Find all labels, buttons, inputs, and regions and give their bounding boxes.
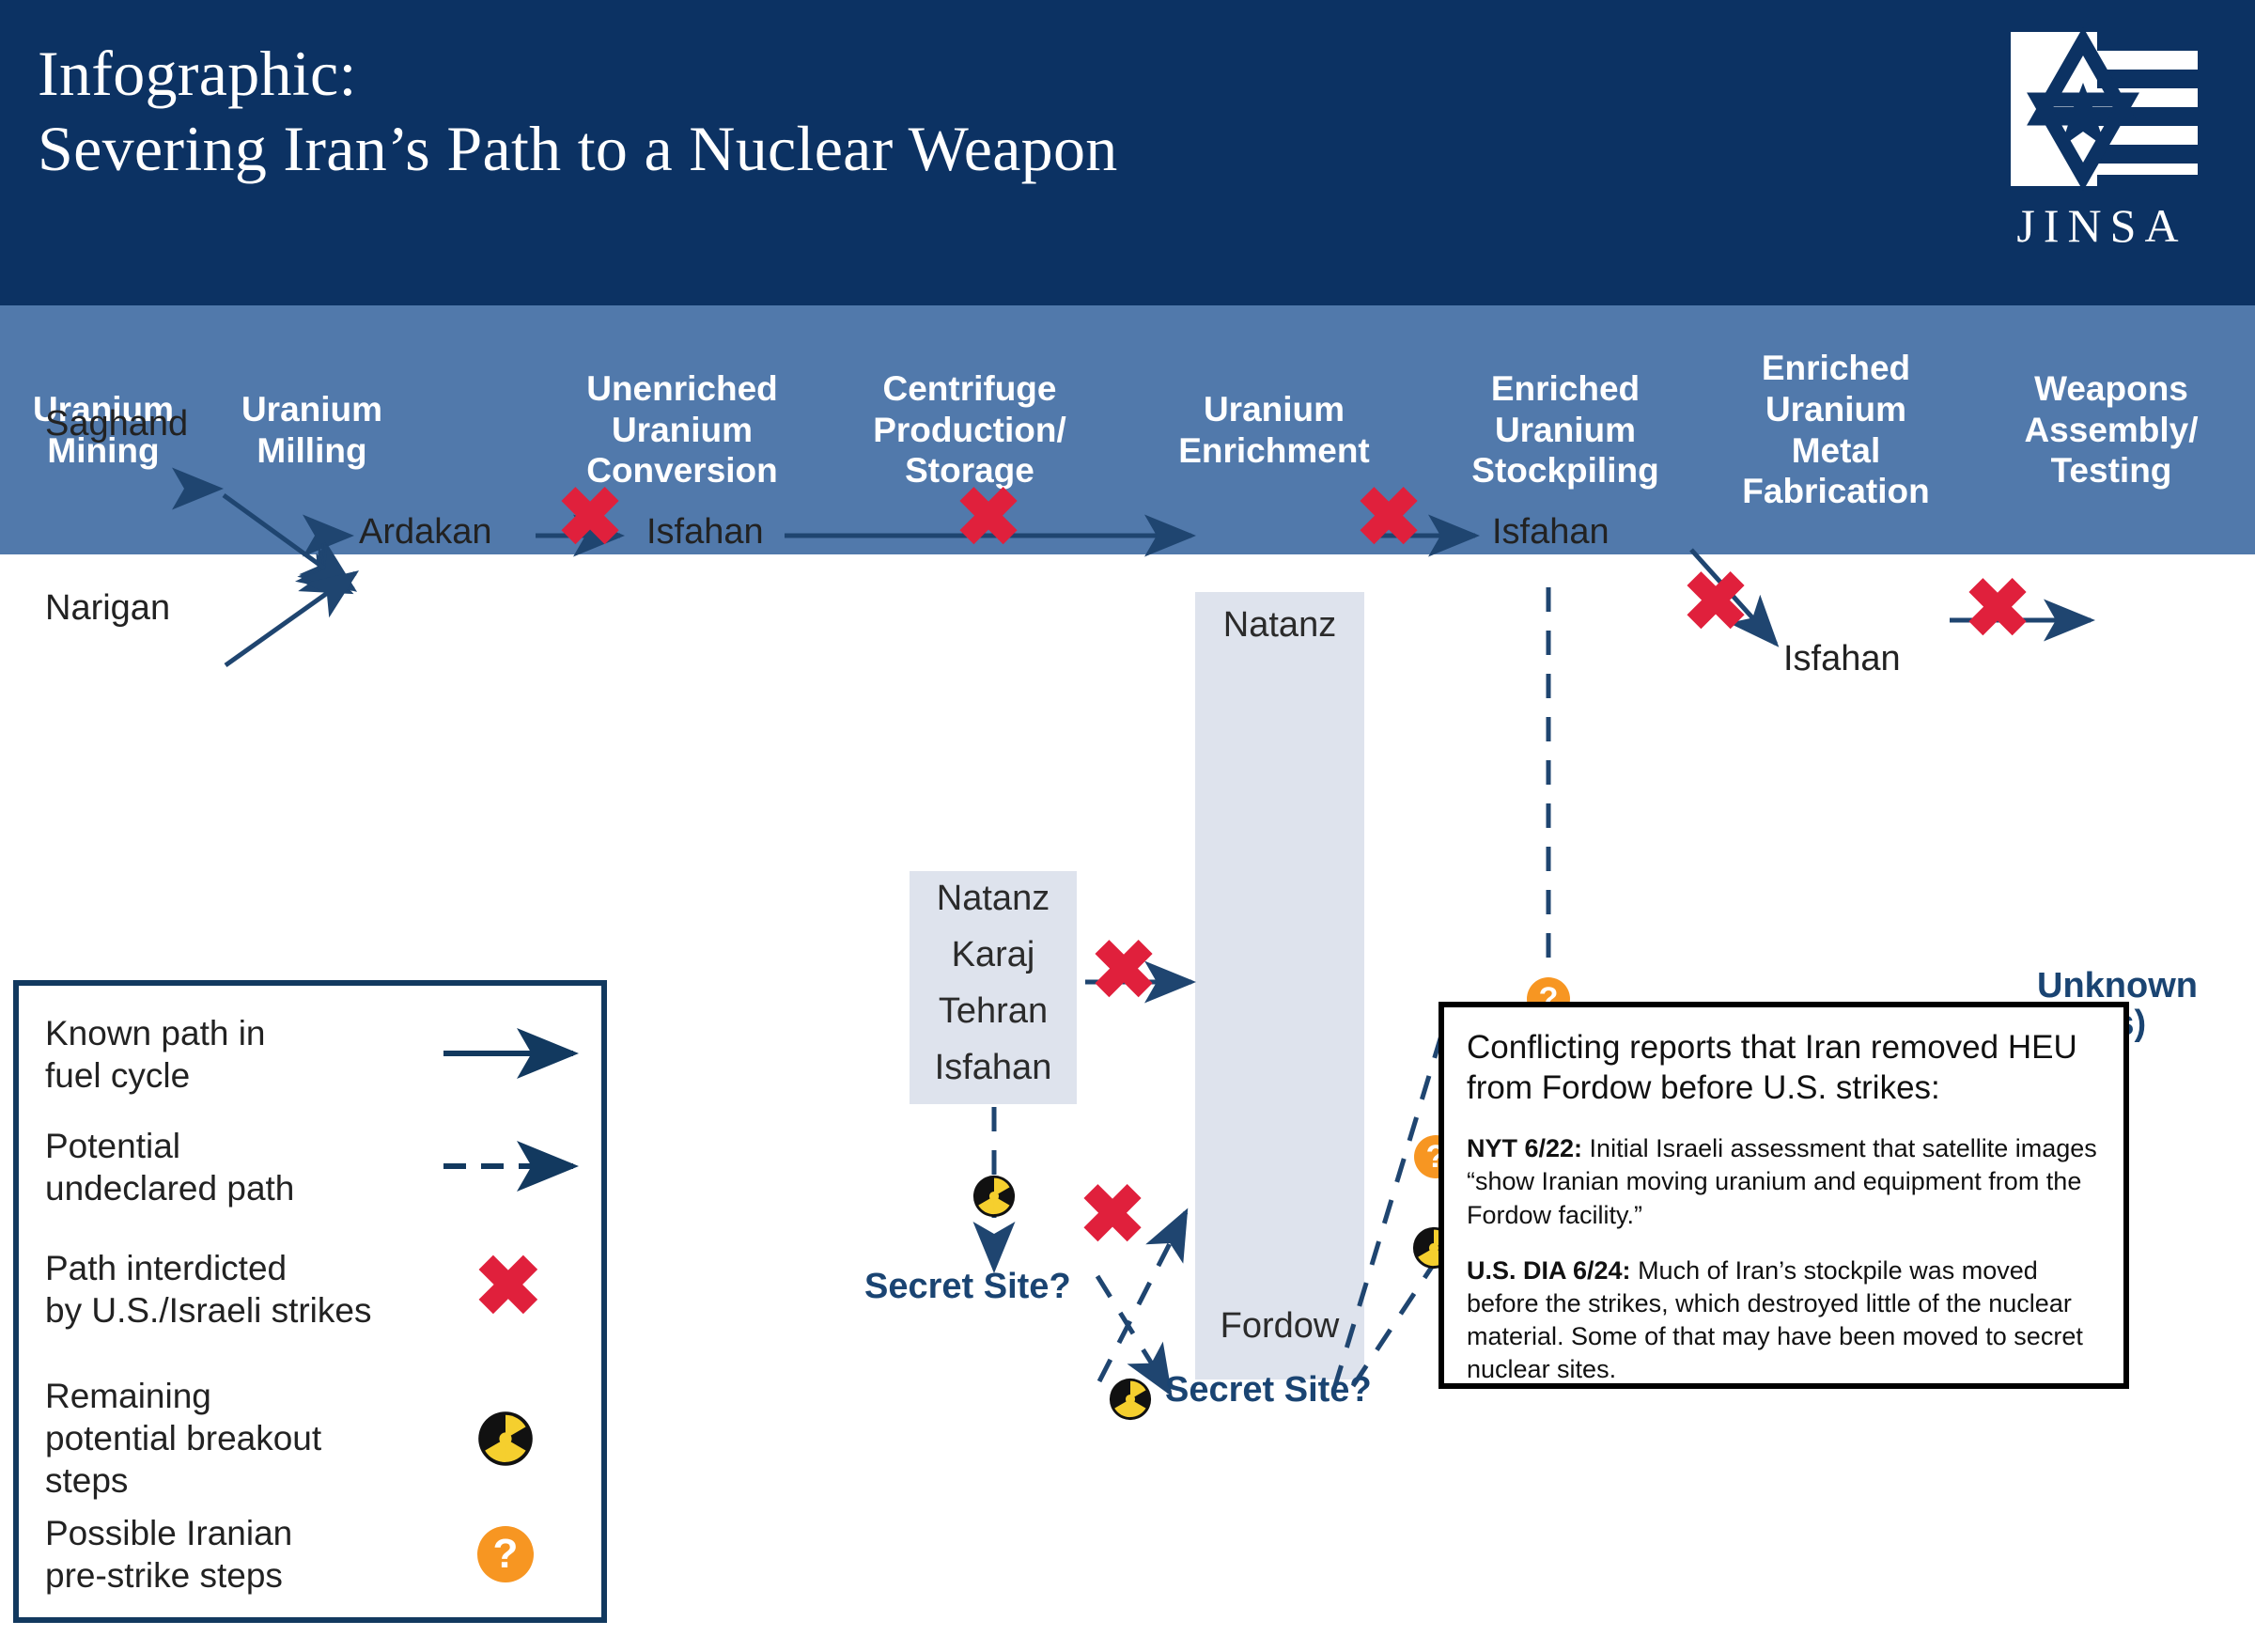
- legend-label-undeclared-path: Potentialundeclared path: [45, 1125, 440, 1209]
- legend-label-pre-strike-steps: Possible Iranianpre-strike steps: [45, 1512, 440, 1597]
- node-isfahan-conversion: Isfahan: [646, 512, 764, 553]
- solid-arrow-icon: [440, 1021, 590, 1087]
- node-ardakan: Ardakan: [359, 512, 492, 553]
- x-mark-centrifuge-natanz: ✖: [1090, 930, 1158, 1011]
- legend-item-known-path: Known path infuel cycle: [45, 1012, 590, 1097]
- callout-source-nyt: NYT 6/22:: [1467, 1134, 1582, 1162]
- x-mark-natanz-isfahan: ✖: [1355, 477, 1423, 558]
- callout-paragraph-dia: U.S. DIA 6/24: Much of Iran’s stockpile …: [1467, 1255, 2101, 1386]
- node-isfahan-metal: Isfahan: [1783, 639, 1901, 679]
- node-isfahan-stockpile: Isfahan: [1492, 512, 1610, 553]
- infographic-root: Infographic: Severing Iran’s Path to a N…: [0, 0, 2255, 1652]
- dashed-arrow-icon: [440, 1134, 590, 1200]
- title-line-1: Infographic:: [38, 38, 357, 109]
- node-secret-site-left: Secret Site?: [864, 1267, 1071, 1307]
- radiation-icon: [1109, 1378, 1152, 1421]
- callout-heading: Conflicting reports that Iran removed HE…: [1467, 1028, 2101, 1108]
- page-title: Infographic: Severing Iran’s Path to a N…: [38, 36, 1823, 186]
- callout-box: Conflicting reports that Iran removed HE…: [1439, 1002, 2129, 1389]
- radiation-icon: [972, 1175, 1016, 1218]
- legend-item-interdicted-path: Path interdictedby U.S./Israeli strikes …: [45, 1247, 590, 1332]
- header-band: Infographic: Severing Iran’s Path to a N…: [0, 0, 2255, 305]
- node-narigan: Narigan: [45, 588, 170, 629]
- legend-item-pre-strike-steps: Possible Iranianpre-strike steps ?: [45, 1512, 590, 1597]
- callout-source-dia: U.S. DIA 6/24:: [1467, 1256, 1631, 1285]
- red-x-icon: ✖: [440, 1256, 590, 1322]
- x-mark-isfahan-natanz: ✖: [955, 477, 1022, 558]
- jinsa-wordmark: JINSA: [1984, 198, 2219, 253]
- stage-enriched-uranium-metal-fabrication: EnrichedUraniumMetalFabrication: [1712, 305, 1960, 554]
- stage-band: UraniumMining UraniumMilling UnenrichedU…: [0, 305, 2255, 554]
- legend-label-interdicted-path: Path interdictedby U.S./Israeli strikes: [45, 1247, 440, 1332]
- x-mark-secret-fordow: ✖: [1079, 1175, 1146, 1255]
- node-saghand: Saghand: [45, 404, 188, 444]
- node-secret-site-bottom: Secret Site?: [1165, 1370, 1372, 1410]
- unknown-sites-line-1: Unknown: [2037, 966, 2198, 1005]
- legend-item-undeclared-path: Potentialundeclared path: [45, 1125, 590, 1209]
- legend-box: Known path infuel cycle Potentialundecla…: [13, 980, 607, 1623]
- legend-item-breakout-steps: Remainingpotential breakoutsteps: [45, 1375, 590, 1502]
- stage-weapons-assembly-testing: WeaponsAssembly/Testing: [1994, 305, 2229, 554]
- orange-question-icon: ?: [440, 1521, 590, 1587]
- radiation-icon: [440, 1406, 590, 1472]
- x-mark-ardakan-isfahan: ✖: [556, 477, 624, 558]
- legend-label-breakout-steps: Remainingpotential breakoutsteps: [45, 1375, 440, 1502]
- x-mark-isfahan-unknown: ✖: [1964, 569, 2031, 649]
- callout-paragraph-nyt: NYT 6/22: Initial Israeli assessment tha…: [1467, 1132, 2101, 1231]
- legend-label-known-path: Known path infuel cycle: [45, 1012, 440, 1097]
- title-line-2: Severing Iran’s Path to a Nuclear Weapon: [38, 111, 1823, 186]
- x-mark-isfahan-isfahan: ✖: [1682, 562, 1750, 643]
- jinsa-logo: JINSA: [1984, 24, 2219, 278]
- jinsa-flag-star-icon: [2003, 24, 2205, 194]
